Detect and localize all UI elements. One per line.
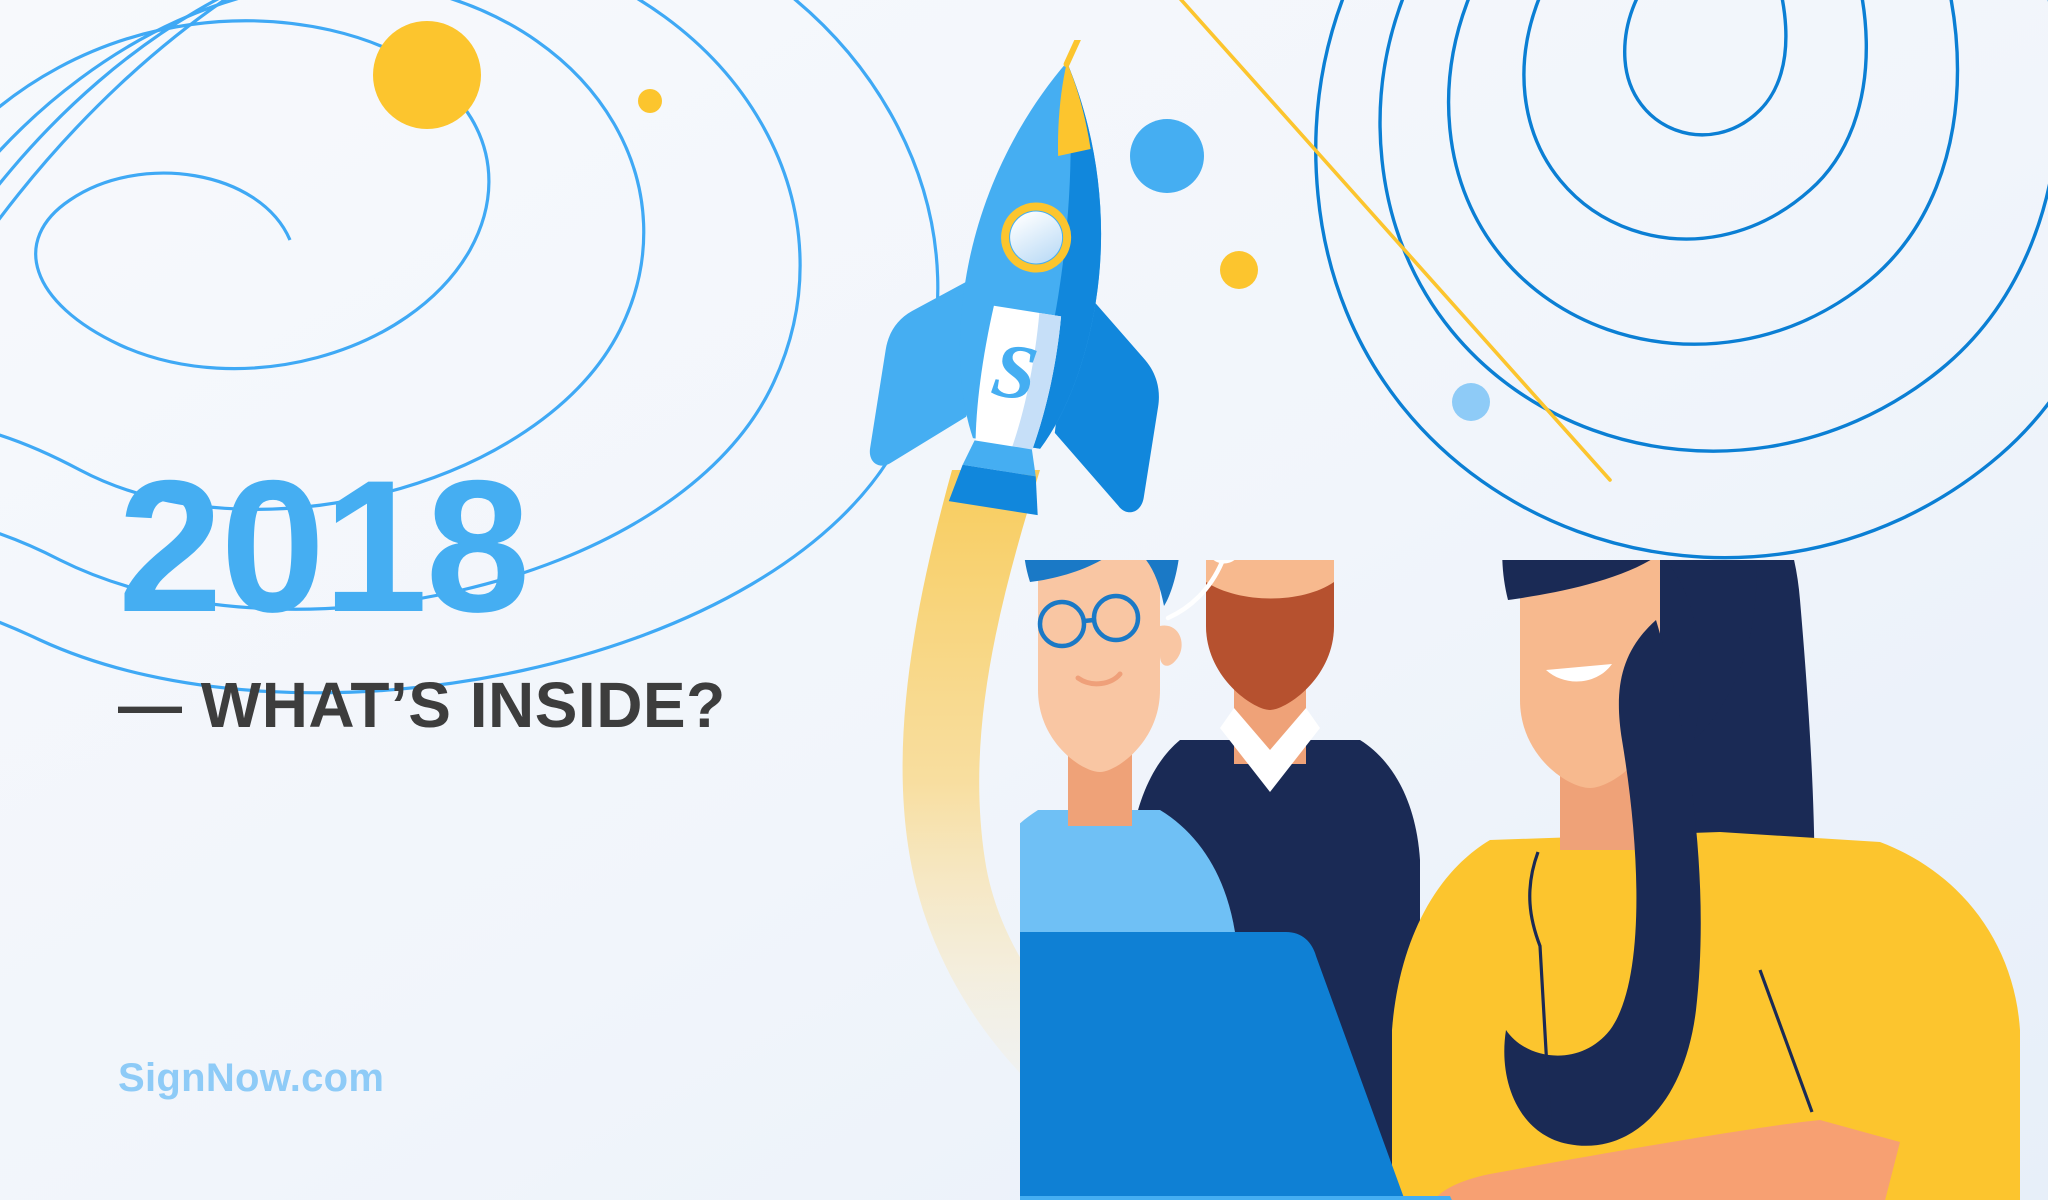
woman-face — [1520, 560, 1660, 788]
woman-smile — [1546, 664, 1612, 681]
laptop-base — [1020, 1196, 1470, 1200]
glasses-man-sweater — [1020, 810, 1238, 1200]
rocket-body-shadow — [1007, 62, 1133, 454]
yellow-diagonal-line — [1176, 0, 1610, 480]
rocket-window-glass — [1006, 208, 1065, 267]
people-illustration — [1020, 560, 2048, 1200]
woman-sweater-seam-right — [1760, 970, 1812, 1112]
rocket-fin-left — [868, 251, 997, 479]
blue-circle-medium — [1130, 119, 1204, 193]
woman-sweater-seam-left — [1530, 852, 1550, 1120]
page-title-year: 2018 — [118, 452, 938, 640]
glasses-man-hair — [1024, 560, 1181, 606]
laptop-lid — [1020, 932, 1412, 1200]
headset-mic-boom — [1168, 562, 1222, 618]
laptop — [1020, 932, 1470, 1200]
woman-neck — [1560, 730, 1640, 850]
woman-hair-shoulder — [1504, 620, 1700, 1146]
woman-sweater — [1392, 832, 2020, 1200]
headset-man-neck — [1234, 680, 1306, 764]
headset-earpiece — [1209, 560, 1239, 561]
yellow-circle-large — [373, 21, 481, 129]
headset-man-head — [1206, 560, 1334, 710]
rocket-nozzle-top — [963, 439, 1040, 476]
glasses-man-head — [1038, 560, 1160, 772]
glasses-man-ear — [1160, 626, 1182, 666]
contour-lines-top-right — [1316, 0, 2048, 558]
rocket-band — [966, 305, 1062, 478]
glasses-bridge — [1084, 620, 1094, 621]
person-woman-yellow — [1392, 560, 2020, 1200]
glasses-man-smile — [1078, 674, 1120, 684]
rocket-logo-letter: S — [987, 325, 1043, 418]
rocket-fin-right — [1038, 278, 1176, 514]
hero-banner: S — [0, 0, 2048, 1200]
headset-man-beard — [1206, 582, 1334, 710]
person-man-headset — [1128, 560, 1420, 1200]
rocket-band-shadow — [1002, 311, 1062, 478]
glasses-lens-left — [1040, 602, 1084, 646]
brand-logo-text[interactable]: SignNow.com — [118, 1056, 384, 1101]
page-subtitle: — WHAT’S INSIDE? — [118, 672, 938, 739]
rocket-antenna — [1067, 40, 1083, 66]
headline-block: 2018 — WHAT’S INSIDE? — [118, 452, 938, 739]
rocket-exhaust-trail — [903, 470, 1180, 1160]
glasses-lens-right — [1094, 596, 1138, 640]
headset-man-jacket — [1128, 740, 1420, 1200]
woman-arm — [1431, 1120, 1900, 1200]
headset-man-collar — [1220, 708, 1320, 792]
yellow-dot-medium — [1220, 251, 1258, 289]
blue-dot-small — [1452, 383, 1490, 421]
woman-hair-back — [1509, 560, 1814, 1067]
yellow-dot-small — [638, 89, 662, 113]
rocket-body — [941, 52, 1132, 454]
rocket-nose-cone — [1051, 62, 1103, 161]
rocket-window-ring — [1001, 202, 1072, 273]
rocket-nozzle-bottom — [949, 464, 1044, 516]
person-man-glasses — [1020, 560, 1238, 1200]
glasses-man-neck — [1068, 746, 1132, 826]
woman-hair-front — [1502, 560, 1756, 740]
